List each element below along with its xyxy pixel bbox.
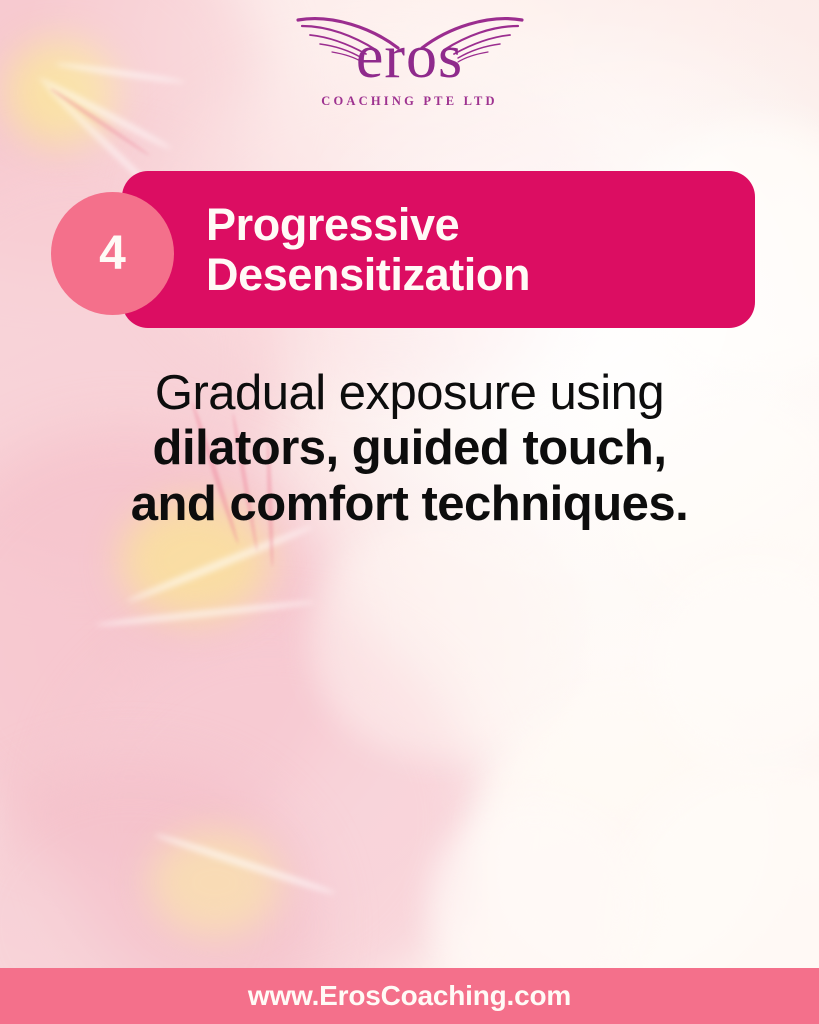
banner-title: Progressive Desensitization [206,200,530,299]
logo-mark: eros COACHING PTE LTD [280,8,540,116]
step-number: 4 [99,230,126,278]
body-line-1: Gradual exposure using [40,366,779,421]
brand-logo: eros COACHING PTE LTD [0,8,819,118]
body-line-2: dilators, guided touch, [40,421,779,476]
step-number-badge: 4 [51,192,174,315]
body-line-3: and comfort techniques. [40,477,779,532]
logo-wordmark: eros [280,26,540,88]
banner-title-line-1: Progressive [206,199,459,250]
footer-website-url[interactable]: www.ErosCoaching.com [248,980,571,1012]
logo-tagline: COACHING PTE LTD [280,94,540,109]
title-banner: Progressive Desensitization [122,171,755,328]
body-copy: Gradual exposure using dilators, guided … [40,366,779,532]
slide-canvas: eros COACHING PTE LTD Progressive Desens… [0,0,819,1024]
footer-bar: www.ErosCoaching.com [0,968,819,1024]
banner-title-line-2: Desensitization [206,249,530,300]
